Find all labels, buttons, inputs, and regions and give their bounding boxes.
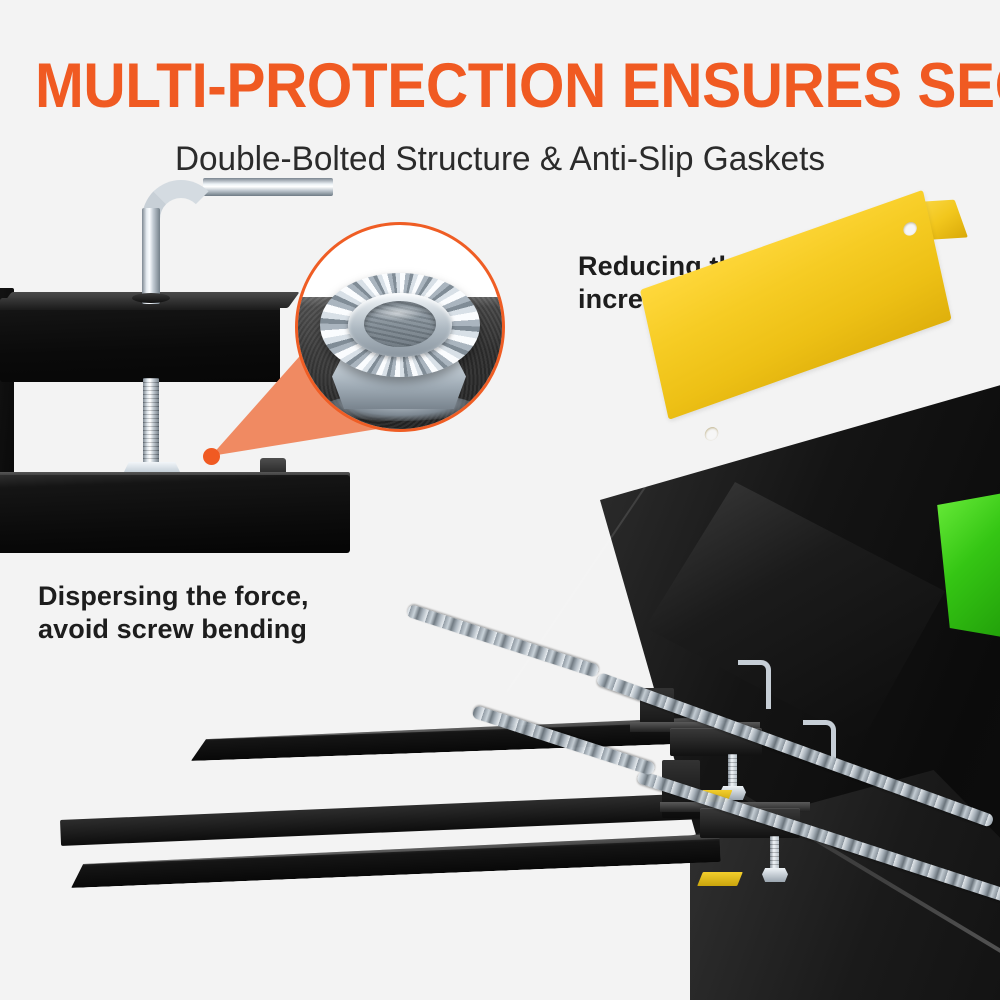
gasket-tab-lower bbox=[697, 872, 743, 886]
gasket-face bbox=[640, 190, 952, 420]
j-bolt-upper-shank bbox=[142, 208, 160, 304]
pallet-fork-bucket-attachment bbox=[0, 440, 1000, 1000]
serrated-flange-nut-zoom bbox=[295, 222, 505, 432]
j-bolt-hook-upper bbox=[738, 660, 771, 709]
bracket-top-bar bbox=[0, 298, 280, 382]
zoom-nut-bore-highlight bbox=[372, 305, 424, 321]
page-headline: MULTI-PROTECTION ENSURES SECURITY bbox=[35, 52, 965, 120]
clamp-nut-lower bbox=[762, 868, 788, 882]
product-feature-image: MULTI-PROTECTION ENSURES SECURITY Double… bbox=[0, 0, 1000, 1000]
j-bolt-arm bbox=[203, 178, 333, 196]
clamp-bolt-upper bbox=[728, 754, 737, 788]
clamp-bolt-lower bbox=[770, 836, 779, 870]
fork-frame-crossbar bbox=[60, 792, 721, 846]
page-subheadline: Double-Bolted Structure & Anti-Slip Gask… bbox=[10, 138, 990, 180]
fork-tine-lower bbox=[70, 834, 721, 888]
j-bolt-top-washer bbox=[132, 293, 170, 303]
gasket-hole-top bbox=[902, 220, 918, 237]
